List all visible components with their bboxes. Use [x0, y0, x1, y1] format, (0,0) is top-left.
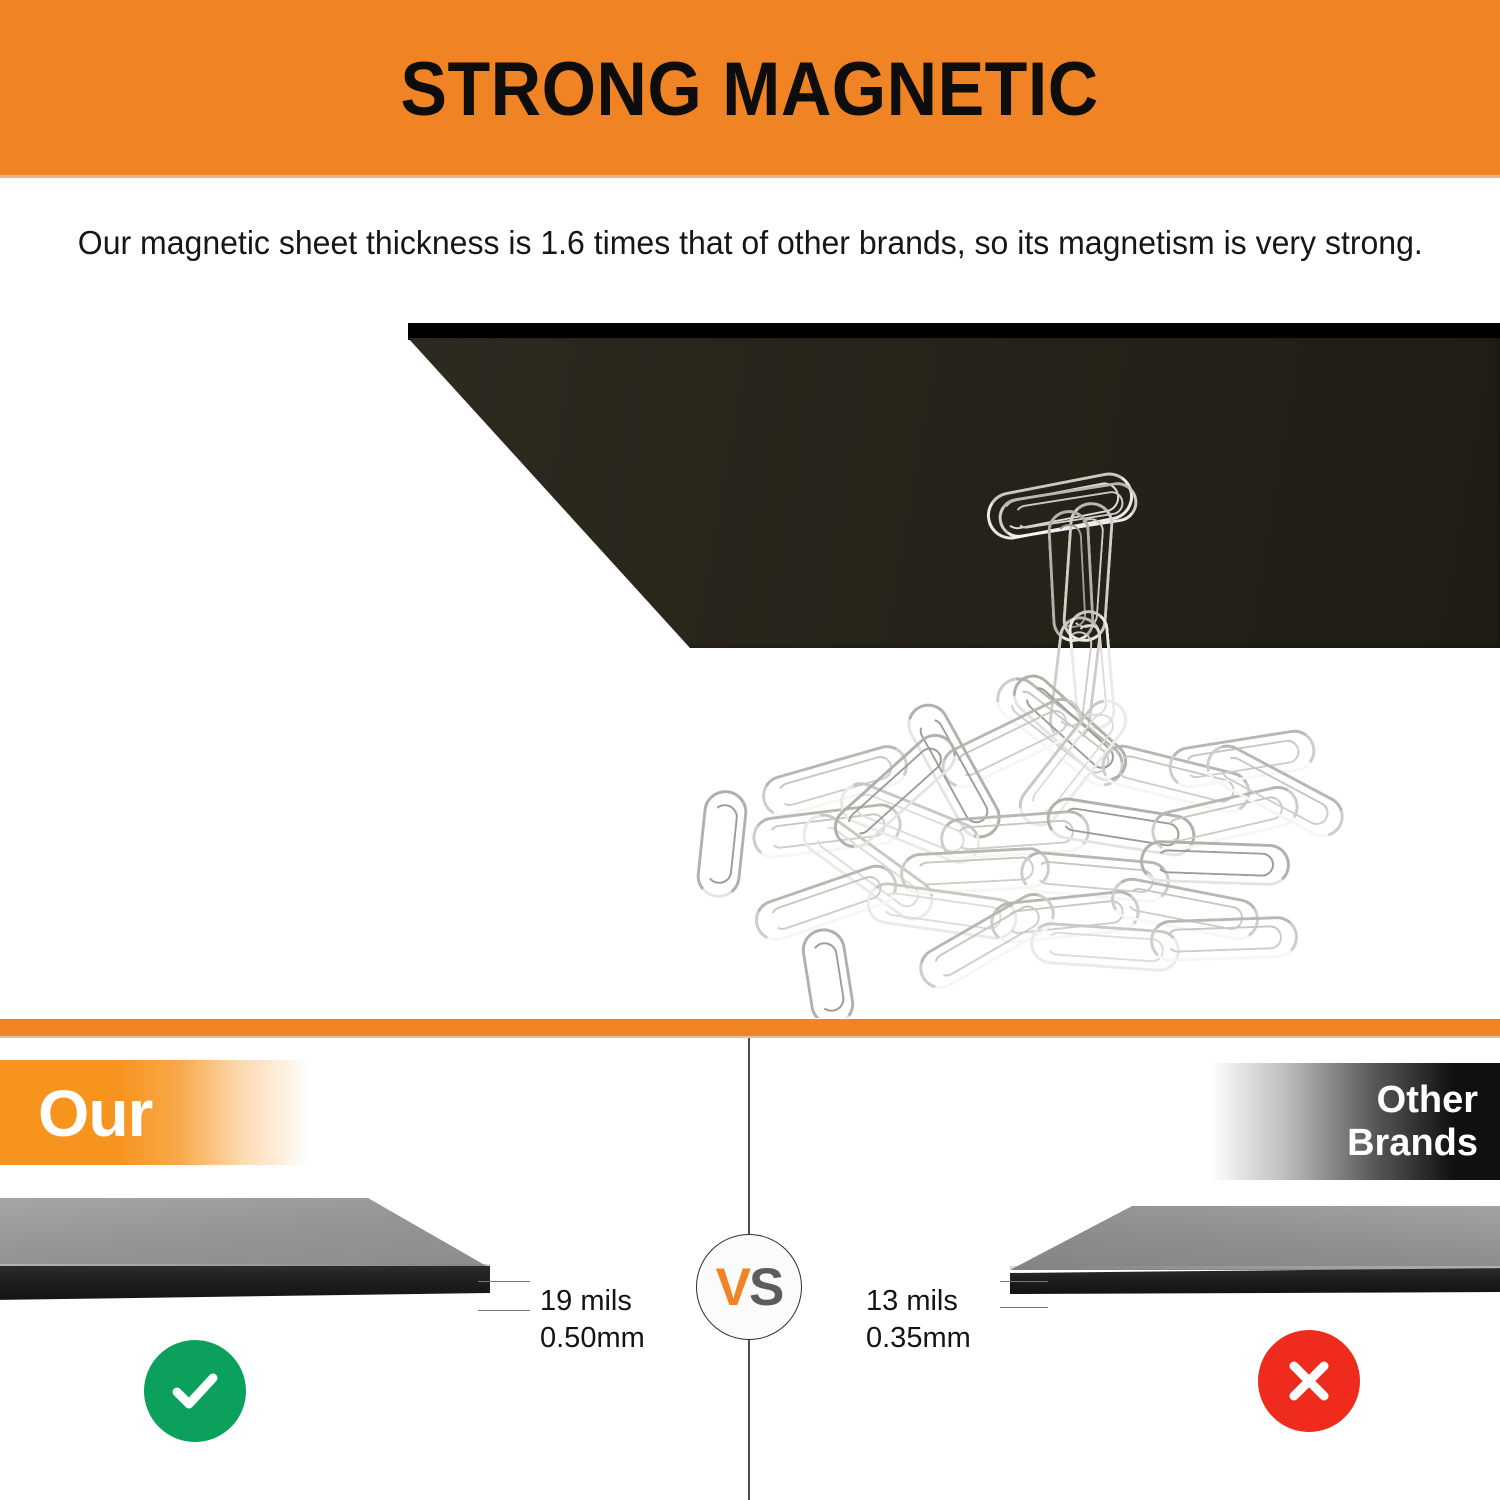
other-slab-edge-highlight [1010, 1266, 1500, 1269]
vs-badge: VS [696, 1234, 802, 1340]
other-brands-label-line2: Brands [1347, 1122, 1478, 1165]
other-thickness-mm: 0.35mm [866, 1320, 971, 1357]
our-thickness-mils: 19 mils [540, 1283, 645, 1320]
our-measure-leader-top [478, 1281, 530, 1282]
paperclip [1149, 915, 1298, 962]
our-sheet-slab [0, 1198, 500, 1310]
vs-badge-v: V [716, 1261, 749, 1314]
subtitle-text: Our magnetic sheet thickness is 1.6 time… [77, 224, 1422, 262]
other-brands-label-line1: Other [1377, 1079, 1478, 1122]
our-thickness-mm: 0.50mm [540, 1320, 645, 1357]
paperclip-pile [0, 290, 1500, 1018]
other-sheet-slab [1000, 1206, 1500, 1310]
x-icon [1258, 1330, 1360, 1432]
header-underline [0, 175, 1500, 178]
page-title: STRONG MAGNETIC [401, 52, 1099, 128]
vs-badge-s: S [749, 1261, 782, 1314]
other-slab-thickness-edge [1010, 1268, 1500, 1294]
paperclip [694, 788, 749, 900]
section-divider [0, 1019, 1500, 1036]
product-photo [0, 290, 1500, 1018]
paperclip [799, 925, 858, 1018]
our-label-text: Our [38, 1080, 152, 1146]
other-brands-label-bar: Other Brands [1210, 1063, 1500, 1180]
check-icon [144, 1340, 246, 1442]
our-slab-thickness-edge [0, 1266, 490, 1300]
other-slab-top-face [1010, 1206, 1500, 1270]
our-thickness-callout: 19 mils 0.50mm [540, 1283, 645, 1357]
paperclip [1139, 839, 1290, 886]
header-banner: STRONG MAGNETIC [0, 0, 1500, 175]
other-measure-leader-bottom [1000, 1307, 1048, 1308]
subtitle-row: Our magnetic sheet thickness is 1.6 time… [0, 212, 1500, 274]
infographic-page: STRONG MAGNETIC Our magnetic sheet thick… [0, 0, 1500, 1500]
other-measure-leader-top [1000, 1281, 1048, 1282]
our-slab-top-face [0, 1198, 490, 1268]
comparison-section: Our Other Brands 19 mils 0.50mm [0, 1038, 1500, 1500]
other-thickness-mils: 13 mils [866, 1283, 971, 1320]
other-thickness-callout: 13 mils 0.35mm [866, 1283, 971, 1357]
our-measure-leader-bottom [478, 1310, 530, 1311]
our-label-bar: Our [0, 1060, 310, 1165]
